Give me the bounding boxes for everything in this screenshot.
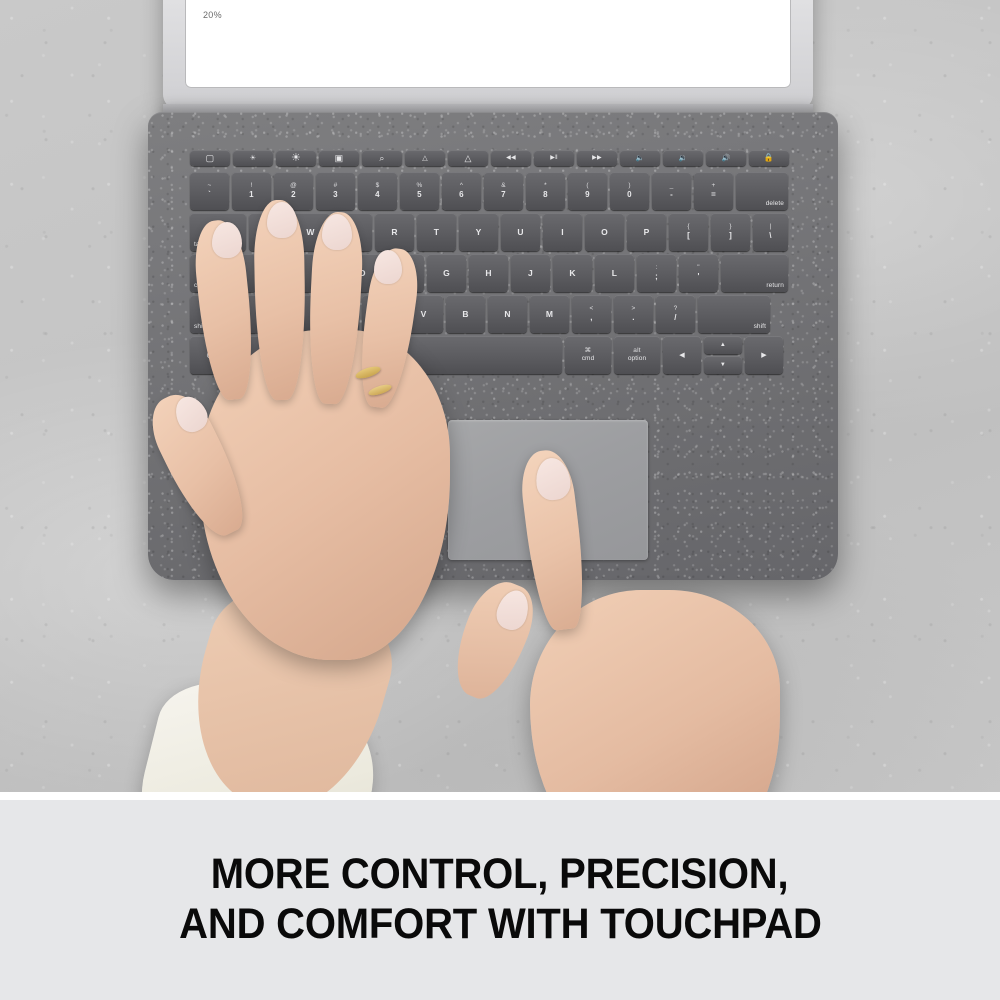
arrow-right-key[interactable]: ▶ [745, 336, 783, 374]
tablet-device: 20% Jan Feb Mar Apr May [163, 0, 813, 110]
key-period[interactable]: >. [614, 295, 653, 333]
option-right-key[interactable]: altoption [614, 336, 660, 374]
caption-banner: MORE CONTROL, PRECISION, AND COMFORT WIT… [0, 800, 1000, 1000]
backlight-down-icon: △ [422, 155, 428, 162]
key-0[interactable]: )0 [610, 172, 649, 210]
lock-key[interactable]: 🔒 [749, 150, 789, 166]
arrow-down-key[interactable]: ▼ [704, 356, 742, 374]
fast-forward-key[interactable]: ▶▶ [577, 150, 617, 166]
arrow-left-icon: ◀ [679, 352, 685, 359]
key-i[interactable]: I [543, 213, 582, 251]
home-key[interactable]: ▢ [190, 150, 230, 166]
tablet-screen: 20% Jan Feb Mar Apr May [185, 0, 791, 88]
key-slash[interactable]: ?/ [656, 295, 695, 333]
arrow-down-icon: ▼ [720, 362, 726, 368]
delete-key[interactable]: delete [736, 172, 788, 210]
mute-key[interactable]: 🔈 [620, 150, 660, 166]
function-key-row: ▢ ☀ ☀ ▣ ⌕ △ △ ◀◀ ▶‖ ▶▶ 🔈 🔉 🔊 🔒 [190, 150, 789, 166]
brightness-up-key[interactable]: ☀ [276, 150, 316, 166]
play-pause-icon: ▶‖ [550, 155, 558, 161]
key-bracket-right[interactable]: }] [711, 213, 750, 251]
volume-down-icon: 🔉 [679, 155, 688, 162]
brightness-down-key[interactable]: ☀ [233, 150, 273, 166]
arrow-right-icon: ▶ [761, 352, 767, 359]
fingernail [374, 250, 402, 284]
caption-line-1: MORE CONTROL, PRECISION, [211, 850, 789, 900]
analytics-area-chart: 20% Jan Feb Mar Apr May [185, 0, 791, 88]
fingernail [267, 202, 297, 238]
chart-svg [241, 0, 781, 18]
key-k[interactable]: K [553, 254, 592, 292]
key-equals[interactable]: += [694, 172, 733, 210]
rewind-key[interactable]: ◀◀ [491, 150, 531, 166]
key-semicolon[interactable]: :; [637, 254, 676, 292]
key-comma[interactable]: <, [572, 295, 611, 333]
brightness-down-icon: ☀ [250, 155, 256, 162]
key-o[interactable]: O [585, 213, 624, 251]
home-icon: ▢ [206, 154, 215, 163]
key-9[interactable]: (9 [568, 172, 607, 210]
return-key[interactable]: return [721, 254, 788, 292]
chart-y-tick-label: 20% [203, 10, 222, 20]
search-icon: ⌕ [379, 154, 384, 163]
play-pause-key[interactable]: ▶‖ [534, 150, 574, 166]
lock-icon: 🔒 [764, 154, 774, 162]
volume-down-key[interactable]: 🔉 [663, 150, 703, 166]
fast-forward-icon: ▶▶ [592, 155, 602, 161]
backlight-up-icon: △ [464, 154, 471, 163]
key-minus[interactable]: _- [652, 172, 691, 210]
volume-up-key[interactable]: 🔊 [706, 150, 746, 166]
key-backslash[interactable]: |\ [753, 213, 788, 251]
photo-caption-divider [0, 792, 1000, 800]
key-bracket-left[interactable]: {[ [669, 213, 708, 251]
app-switcher-key[interactable]: ▣ [319, 150, 359, 166]
app-switcher-icon: ▣ [335, 154, 344, 163]
key-p[interactable]: P [627, 213, 666, 251]
caption-line-2: AND COMFORT WITH TOUCHPAD [179, 900, 822, 950]
volume-up-icon: 🔊 [722, 155, 731, 162]
arrow-up-icon: ▲ [720, 342, 726, 348]
rewind-icon: ◀◀ [506, 155, 516, 161]
keyboard-backlight-up-key[interactable]: △ [448, 150, 488, 166]
key-quote[interactable]: "' [679, 254, 718, 292]
arrow-up-key[interactable]: ▲ [704, 336, 742, 354]
key-l[interactable]: L [595, 254, 634, 292]
fingernail [212, 222, 242, 258]
fingernail [322, 214, 352, 250]
arrow-left-key[interactable]: ◀ [663, 336, 701, 374]
shift-right-key[interactable]: shift [698, 295, 770, 333]
arrow-updown-stack: ▲ ▼ [704, 336, 742, 374]
product-photo: 20% Jan Feb Mar Apr May [0, 0, 1000, 800]
keyboard-backlight-down-key[interactable]: △ [405, 150, 445, 166]
product-marketing-image: 20% Jan Feb Mar Apr May [0, 0, 1000, 1000]
brightness-up-icon: ☀ [291, 153, 301, 164]
cmd-right-key[interactable]: ⌘cmd [565, 336, 611, 374]
right-hand [470, 440, 830, 800]
search-key[interactable]: ⌕ [362, 150, 402, 166]
mute-icon: 🔈 [636, 155, 645, 162]
